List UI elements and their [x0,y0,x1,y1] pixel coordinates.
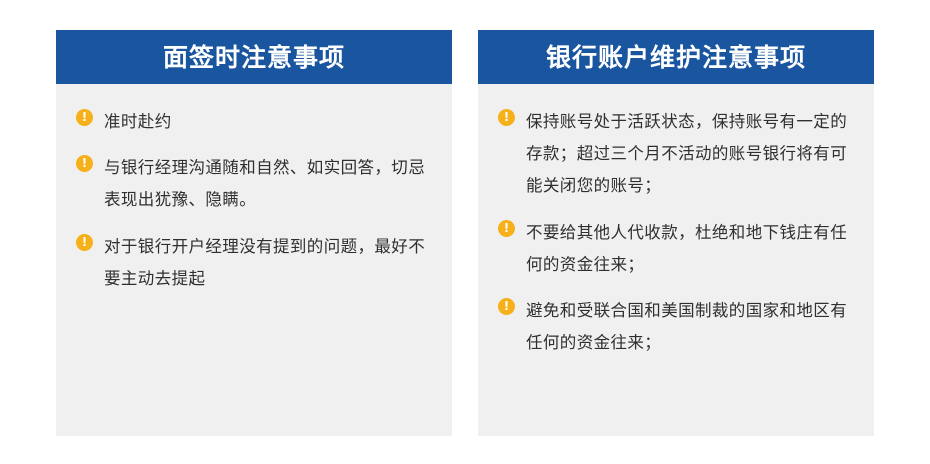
exclamation-icon: ! [76,234,93,251]
list-item: ! 对于银行开户经理没有提到的问题，最好不要主动去提起 [76,231,430,295]
panel-face-to-face-signing: 面签时注意事项 ! 准时赴约 ! 与银行经理沟通随和自然、如实回答，切忌表现出犹… [56,30,452,436]
exclamation-icon: ! [76,109,93,126]
panel-body-left: ! 准时赴约 ! 与银行经理沟通随和自然、如实回答，切忌表现出犹豫、隐瞒。 ! … [56,84,452,313]
list-item-text: 不要给其他人代收款，杜绝和地下钱庄有任何的资金往来； [526,217,852,281]
panel-body-right: ! 保持账号处于活跃状态，保持账号有一定的存款；超过三个月不活动的账号银行将有可… [478,84,874,377]
exclamation-icon: ! [498,109,515,126]
panel-title-left: 面签时注意事项 [163,45,345,70]
list-item: ! 准时赴约 [76,106,430,138]
notice-board: 面签时注意事项 ! 准时赴约 ! 与银行经理沟通随和自然、如实回答，切忌表现出犹… [0,0,930,464]
exclamation-icon: ! [76,155,93,172]
list-item: ! 与银行经理沟通随和自然、如实回答，切忌表现出犹豫、隐瞒。 [76,152,430,216]
list-item: ! 保持账号处于活跃状态，保持账号有一定的存款；超过三个月不活动的账号银行将有可… [498,106,852,203]
list-item-text: 保持账号处于活跃状态，保持账号有一定的存款；超过三个月不活动的账号银行将有可能关… [526,106,852,203]
list-item: ! 避免和受联合国和美国制裁的国家和地区有任何的资金往来； [498,295,852,359]
exclamation-icon: ! [498,220,515,237]
panel-title-right: 银行账户维护注意事项 [546,45,806,70]
list-item: ! 不要给其他人代收款，杜绝和地下钱庄有任何的资金往来； [498,217,852,281]
list-item-text: 准时赴约 [104,106,172,138]
exclamation-icon: ! [498,298,515,315]
panel-bank-account-maintenance: 银行账户维护注意事项 ! 保持账号处于活跃状态，保持账号有一定的存款；超过三个月… [478,30,874,436]
panel-header-left: 面签时注意事项 [56,30,452,84]
list-item-text: 对于银行开户经理没有提到的问题，最好不要主动去提起 [104,231,430,295]
list-item-text: 避免和受联合国和美国制裁的国家和地区有任何的资金往来； [526,295,852,359]
panel-header-right: 银行账户维护注意事项 [478,30,874,84]
list-item-text: 与银行经理沟通随和自然、如实回答，切忌表现出犹豫、隐瞒。 [104,152,430,216]
